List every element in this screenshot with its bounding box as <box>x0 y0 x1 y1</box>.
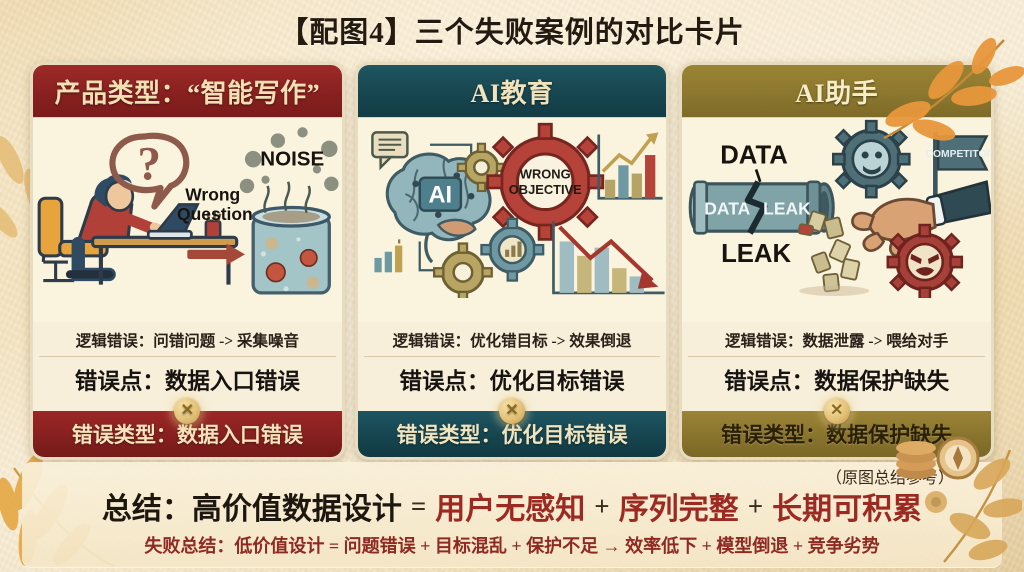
svg-text:?: ? <box>137 139 161 191</box>
summary-lead: 总结：高价值数据设计 <box>102 484 402 528</box>
page-title: 【配图4】三个失败案例的对比卡片 <box>0 8 1024 52</box>
svg-text:Wrong: Wrong <box>185 184 240 204</box>
summary-term-3: 长期可积累 <box>772 484 922 528</box>
svg-text:AI: AI <box>428 182 452 208</box>
card-header-3: AI助手 <box>682 65 991 117</box>
poster-canvas: 【配图4】三个失败案例的对比卡片 产品类型：“智能写作” <box>0 0 1024 572</box>
summary-term-1: 用户无感知 <box>435 484 585 528</box>
card-header-1: 产品类型：“智能写作” <box>33 65 342 117</box>
card-illustration-3: DATA DATA LEAK LEAK <box>682 117 991 322</box>
card-header-2: AI教育 <box>358 65 667 117</box>
card-row: 产品类型：“智能写作” <box>30 62 994 460</box>
svg-text:OBJECTIVE: OBJECTIVE <box>508 182 581 197</box>
failure-card-ai-assistant[interactable]: AI助手 DATA DATA <box>679 62 994 460</box>
card-footer-2: ✕ 错误类型：优化目标错误 <box>358 411 667 457</box>
logic-line-2: 逻辑错误：优化错目标 -> 效果倒退 <box>364 326 661 357</box>
card-footer-1: ✕ 错误类型：数据入口错误 <box>33 411 342 457</box>
summary-main-line: 总结：高价值数据设计 = 用户无感知 + 序列完整 + 长期可积累 <box>22 484 1002 528</box>
svg-text:Question: Question <box>177 204 253 224</box>
svg-text:LEAK: LEAK <box>764 199 812 219</box>
card-illustration-2: AI <box>358 117 667 322</box>
svg-text:LEAK: LEAK <box>721 240 791 268</box>
summary-plus-1: + <box>594 491 609 522</box>
failure-card-writing[interactable]: 产品类型：“智能写作” <box>30 62 345 460</box>
summary-term-2: 序列完整 <box>619 484 739 528</box>
x-badge-icon-2: ✕ <box>499 398 525 424</box>
x-badge-icon-1: ✕ <box>174 398 200 424</box>
x-badge-icon-3: ✕ <box>824 398 850 424</box>
logic-line-3: 逻辑错误：数据泄露 -> 喂给对手 <box>688 326 985 357</box>
logic-line-1: 逻辑错误：问错问题 -> 采集噪音 <box>39 326 336 357</box>
summary-equals: = <box>411 491 426 522</box>
summary-plus-2: + <box>748 491 763 522</box>
summary-panel: （原图总结参考） 总结：高价值数据设计 = 用户无感知 + 序列完整 + 长期可… <box>22 462 1002 568</box>
failure-card-ai-education[interactable]: AI教育 <box>355 62 670 460</box>
card-footer-3: ✕ 错误类型：数据保护缺失 <box>682 411 991 457</box>
summary-sub-line: 失败总结：低价值设计 = 问题错误 + 目标混乱 + 保护不足 → 效率低下 +… <box>22 530 1002 560</box>
svg-text:NOISE: NOISE <box>260 147 324 170</box>
svg-text:WRONG: WRONG <box>520 167 571 182</box>
svg-text:DATA: DATA <box>721 141 789 169</box>
svg-text:COMPETITOR: COMPETITOR <box>926 149 991 160</box>
svg-text:DATA: DATA <box>705 199 751 219</box>
card-illustration-1: ? Wrong Question <box>33 117 342 322</box>
